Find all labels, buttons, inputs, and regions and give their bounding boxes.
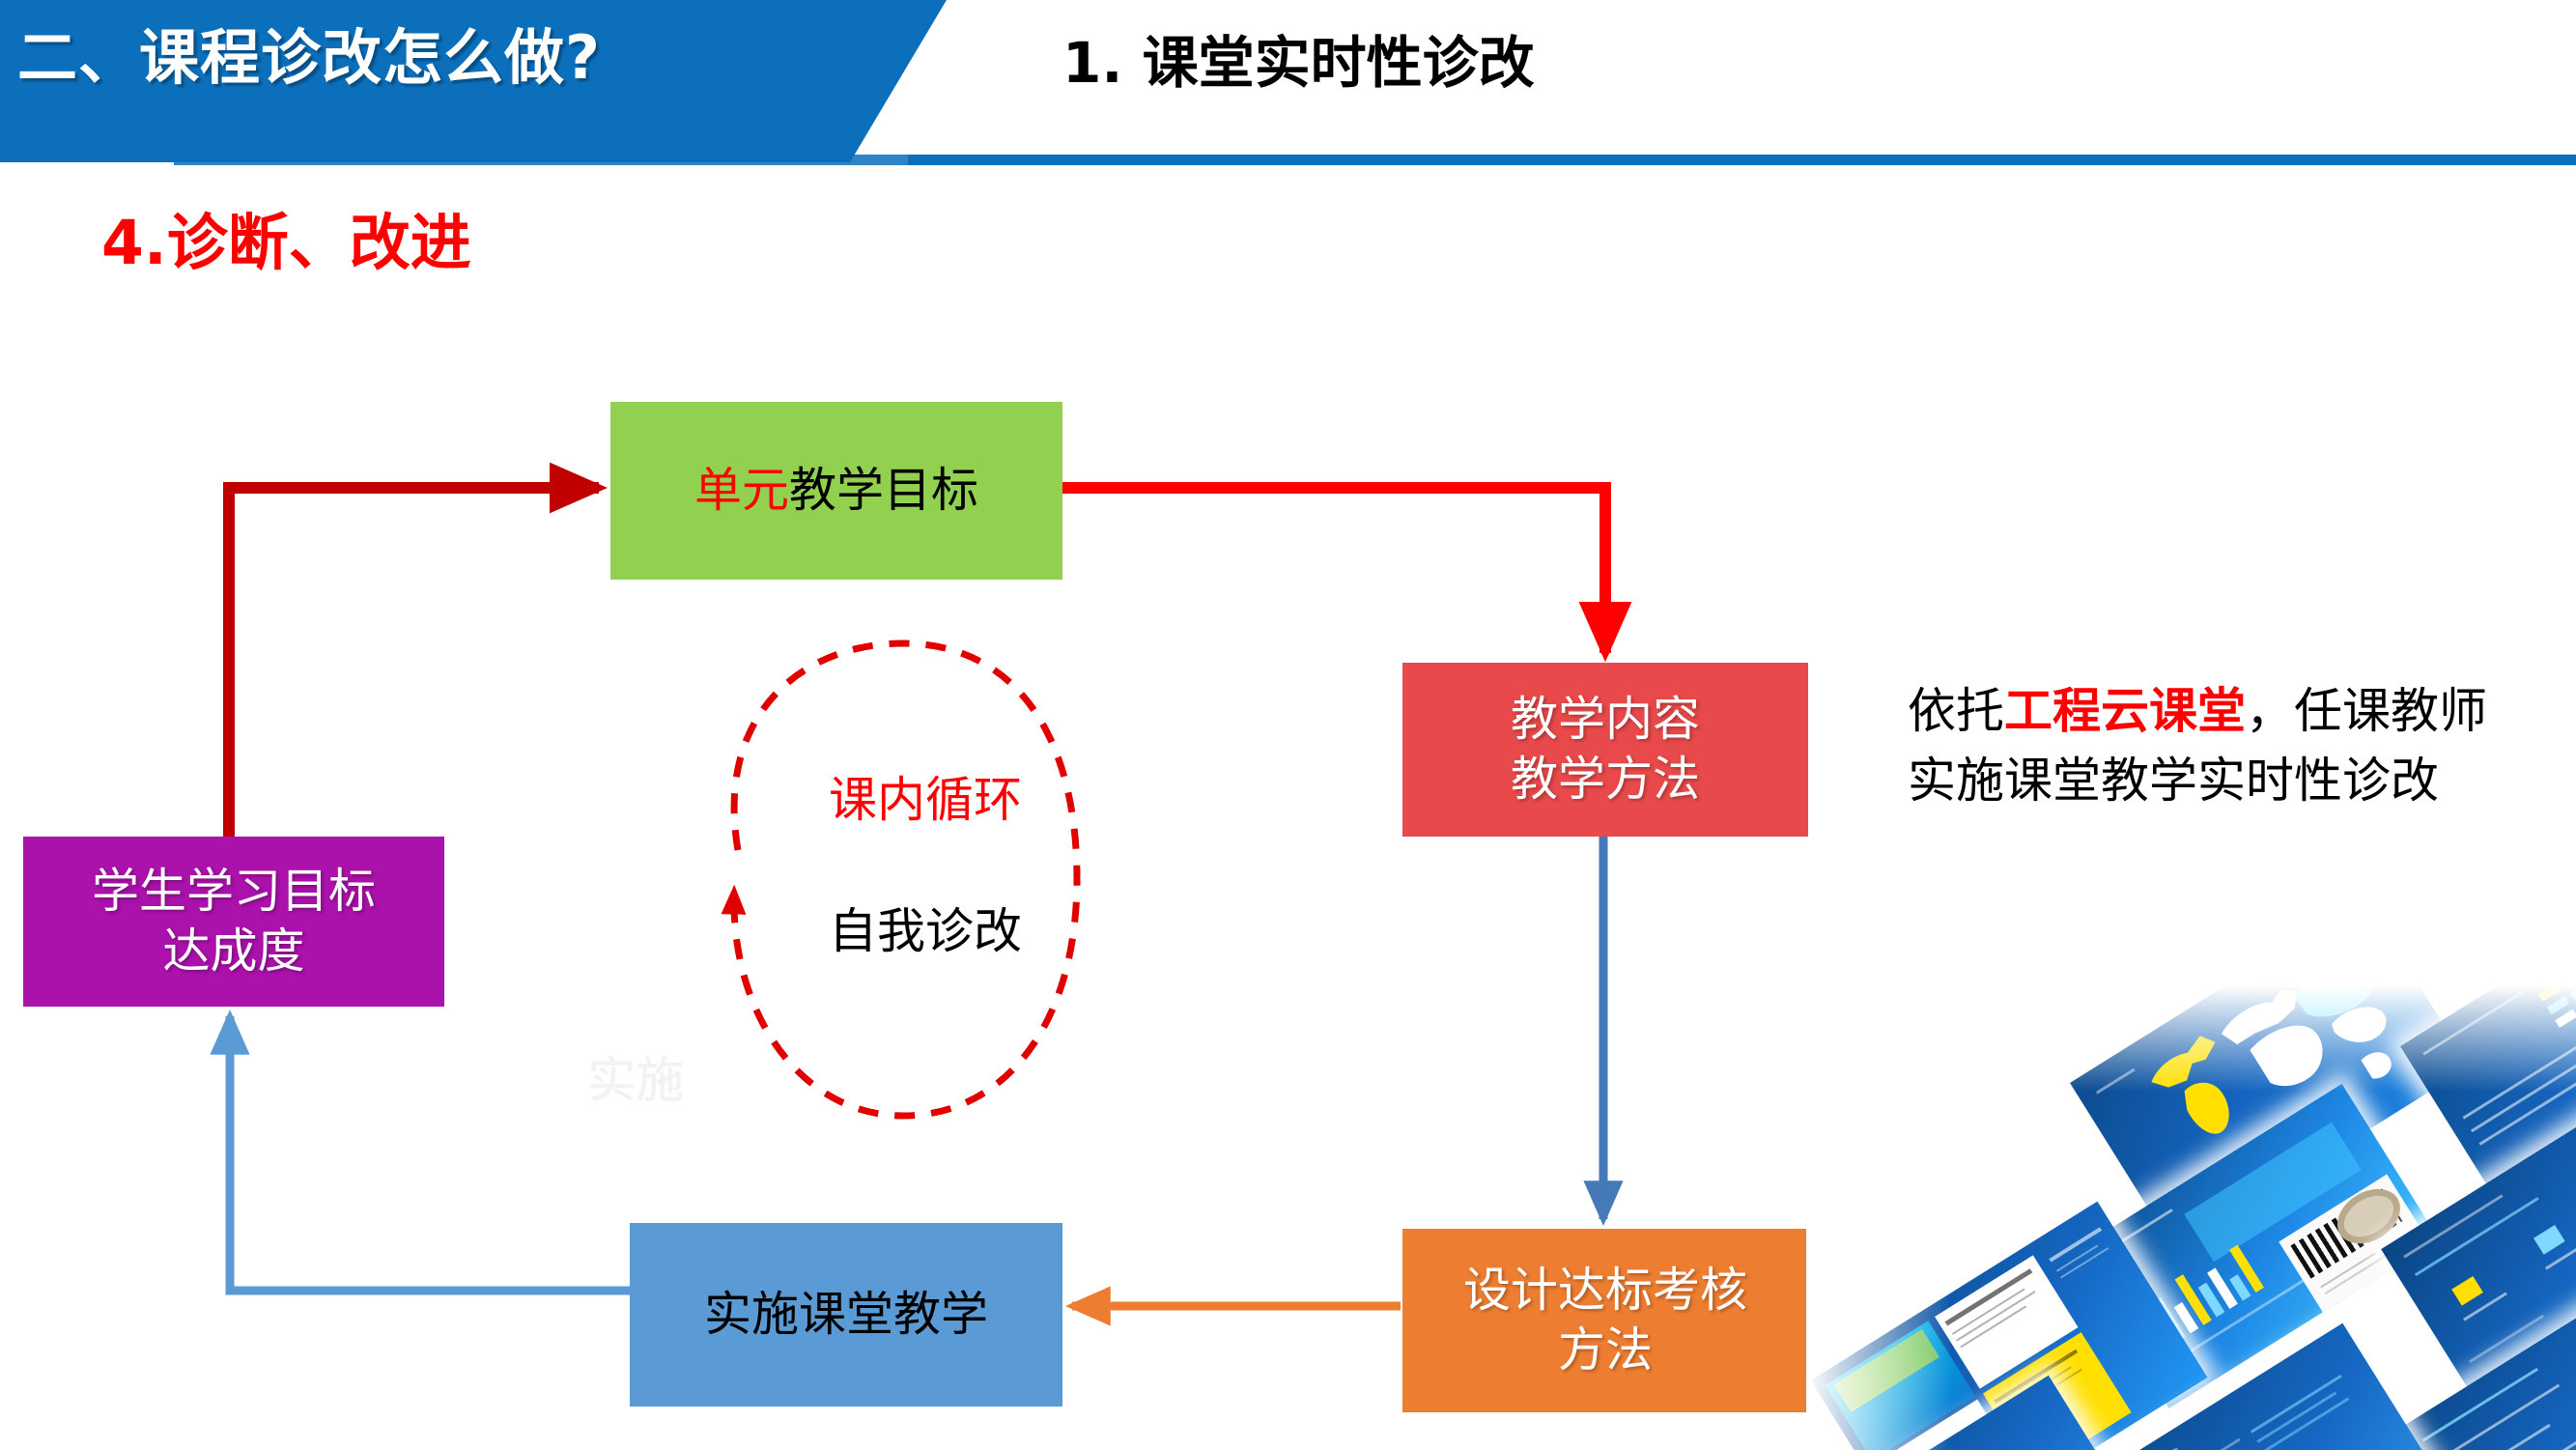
inner-loop-label-primary: 课内循环	[780, 769, 1070, 831]
header-band: 二、课程诊改怎么做? 1. 课堂实时性诊改	[0, 0, 2576, 179]
side-note-paragraph: 依托工程云课堂，任课教师实施课堂教学实时性诊改	[1908, 676, 2497, 815]
section-title: 4.诊断、改进	[101, 205, 471, 282]
flow-box-student-label: 学生学习目标 达成度	[92, 862, 376, 981]
connector-goal-to-content	[1062, 488, 1605, 653]
decorative-slides-image	[1806, 985, 2576, 1450]
flow-box-goal-rest: 教学目标	[789, 463, 978, 518]
header-underline	[908, 155, 2576, 165]
flow-box-unit-teaching-goal[interactable]: 单元教学目标	[610, 402, 1062, 580]
connector-teach-to-student	[230, 1016, 630, 1291]
header-underline-left	[174, 155, 937, 165]
side-note-highlight: 工程云课堂	[2004, 683, 2246, 739]
header-left-title: 二、课程诊改怎么做?	[17, 21, 809, 95]
flow-box-assess-label: 设计达标考核 方法	[1463, 1261, 1747, 1380]
inner-loop-dashed-ellipse	[734, 643, 1077, 1116]
flow-box-teach-label: 实施课堂教学	[704, 1285, 988, 1345]
deco-fade-top	[1806, 985, 2576, 1092]
flow-box-design-assessment-method[interactable]: 设计达标考核 方法	[1402, 1229, 1808, 1412]
side-note-prefix: 依托	[1908, 683, 2004, 739]
flow-box-teaching-content-method[interactable]: 教学内容 教学方法	[1402, 663, 1808, 837]
header-right-title: 1. 课堂实时性诊改	[1062, 27, 1535, 99]
flow-box-content-label: 教学内容 教学方法	[1511, 690, 1700, 810]
flow-box-goal-highlight: 单元	[694, 463, 789, 518]
flow-box-implement-classroom-teaching[interactable]: 实施课堂教学	[630, 1223, 1062, 1407]
watermark-text: 实施	[587, 1051, 684, 1109]
inner-loop-label-secondary: 自我诊改	[780, 900, 1070, 962]
flow-box-goal-label: 单元教学目标	[694, 461, 978, 521]
flow-box-student-goal-attainment[interactable]: 学生学习目标 达成度	[23, 837, 444, 1007]
connector-student-to-goal	[229, 488, 599, 837]
